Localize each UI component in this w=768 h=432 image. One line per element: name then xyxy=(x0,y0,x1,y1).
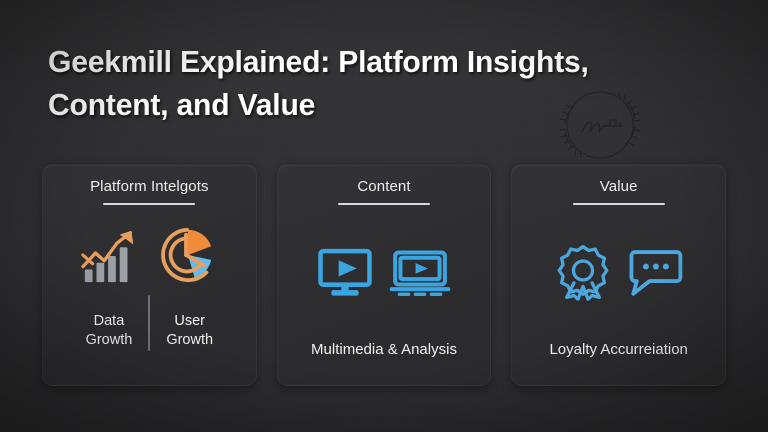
card-icon-row xyxy=(512,205,725,340)
card-heading: Content xyxy=(357,179,410,196)
page-title: Geekmill Explained: Platform Insights, C… xyxy=(48,40,700,127)
card-icon-row xyxy=(278,205,491,340)
label-data-growth: Data Growth xyxy=(86,312,133,350)
label-multimedia-analysis: Multimedia & Analysis xyxy=(311,340,457,360)
label-loyalty-appreciation: Loyalty Accurreiation xyxy=(549,340,687,360)
award-ribbon-icon xyxy=(554,243,612,301)
chat-bubble-dots-icon xyxy=(626,246,684,298)
label-user-growth: User Growth xyxy=(166,312,213,350)
card-label-row: Loyalty Accurreiation xyxy=(512,340,725,386)
slide-canvas: Geekmill Explained: Platform Insights, C… xyxy=(0,0,768,432)
label-divider xyxy=(148,295,150,351)
feature-cards-row: Platform Intelgots xyxy=(42,164,726,386)
card-content[interactable]: Content xyxy=(277,164,492,386)
laptop-play-icon xyxy=(388,243,452,301)
card-label-row: Multimedia & Analysis xyxy=(278,340,491,386)
card-icon-row xyxy=(43,205,256,304)
card-heading: Platform Intelgots xyxy=(90,179,209,196)
card-heading: Value xyxy=(600,179,638,196)
card-label-row: Data Growth User Growth xyxy=(43,303,256,385)
monitor-play-icon xyxy=(316,243,374,301)
card-platform-insights[interactable]: Platform Intelgots xyxy=(42,164,257,386)
pie-chart-icon xyxy=(156,223,218,285)
bar-chart-growth-icon xyxy=(80,223,142,285)
card-value[interactable]: Value xyxy=(511,164,726,386)
